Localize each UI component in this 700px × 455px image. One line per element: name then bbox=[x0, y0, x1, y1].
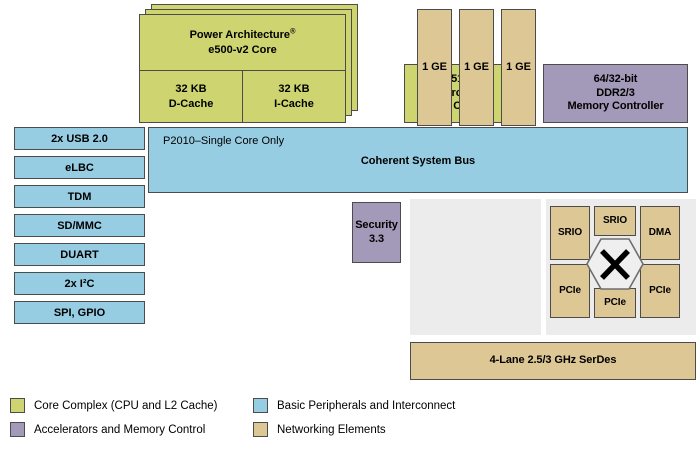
block-diagram-canvas: Power Architecture® e500-v2 Core 32 KB D… bbox=[0, 0, 700, 455]
legend-swatch-networking bbox=[253, 422, 268, 437]
legend-row-2: Accelerators and Memory Control Networki… bbox=[10, 422, 690, 446]
peripheral-label: eLBC bbox=[65, 162, 94, 174]
peripheral-label: SD/MMC bbox=[57, 220, 102, 232]
ethernet-block-2[interactable]: 1 GE bbox=[459, 9, 494, 126]
peripheral-elbc[interactable]: eLBC bbox=[14, 156, 145, 179]
ethernet-tray bbox=[410, 199, 541, 335]
ethernet-label: 1 GE bbox=[506, 61, 531, 75]
i-cache-name: I-Cache bbox=[274, 98, 314, 110]
srio-top-label: SRIO bbox=[603, 215, 627, 228]
pcie-bottom-label: PCIe bbox=[604, 297, 626, 310]
serdes-label: 4-Lane 2.5/3 GHz SerDes bbox=[490, 354, 617, 368]
peripheral-label: TDM bbox=[68, 191, 92, 203]
pcie-right-label: PCIe bbox=[649, 285, 671, 298]
peripheral-label: DUART bbox=[60, 249, 99, 261]
i-cache-size: 32 KB bbox=[278, 83, 309, 95]
dma-block[interactable]: DMA bbox=[640, 206, 680, 260]
security-name: Security bbox=[355, 219, 398, 231]
memory-controller-type: DDR2/3 bbox=[596, 87, 635, 99]
serdes-block[interactable]: 4-Lane 2.5/3 GHz SerDes bbox=[410, 342, 696, 380]
legend-item-accelerators: Accelerators and Memory Control bbox=[10, 422, 205, 437]
ethernet-label: 1 GE bbox=[422, 61, 447, 75]
single-core-note: P2010–Single Core Only bbox=[163, 135, 284, 147]
core-complex-group: Power Architecture® e500-v2 Core 32 KB D… bbox=[139, 4, 358, 123]
peripheral-usb[interactable]: 2x USB 2.0 bbox=[14, 127, 145, 150]
core-complex-block[interactable]: Power Architecture® e500-v2 Core 32 KB D… bbox=[139, 14, 346, 123]
pcie-bottom-block[interactable]: PCIe bbox=[594, 288, 636, 318]
memory-controller-block[interactable]: 64/32-bit DDR2/3 Memory Controller bbox=[543, 64, 688, 123]
legend-item-basic-peripherals: Basic Peripherals and Interconnect bbox=[253, 398, 455, 413]
coherent-system-bus-label: Coherent System Bus bbox=[149, 155, 687, 167]
legend-item-networking: Networking Elements bbox=[253, 422, 386, 437]
peripheral-label: SPI, GPIO bbox=[54, 307, 105, 319]
peripheral-i2c[interactable]: 2x I²C bbox=[14, 272, 145, 295]
peripheral-label: 2x USB 2.0 bbox=[51, 133, 108, 145]
i-cache-block[interactable]: 32 KB I-Cache bbox=[243, 71, 345, 122]
legend-swatch-core-complex bbox=[10, 398, 25, 413]
ethernet-block-1[interactable]: 1 GE bbox=[417, 9, 452, 126]
peripheral-tdm[interactable]: TDM bbox=[14, 185, 145, 208]
legend-item-core-complex: Core Complex (CPU and L2 Cache) bbox=[10, 398, 217, 413]
srio-left-block[interactable]: SRIO bbox=[550, 206, 590, 260]
peripheral-label: 2x I²C bbox=[65, 278, 95, 290]
pcie-right-block[interactable]: PCIe bbox=[640, 264, 680, 318]
crossbar-switch-icon[interactable] bbox=[586, 238, 644, 290]
srio-left-label: SRIO bbox=[558, 227, 582, 240]
legend-label-accelerators: Accelerators and Memory Control bbox=[34, 424, 205, 436]
coherent-system-bus-block[interactable]: P2010–Single Core Only Coherent System B… bbox=[148, 127, 688, 193]
memory-controller-width: 64/32-bit bbox=[594, 73, 638, 85]
legend-label-core-complex: Core Complex (CPU and L2 Cache) bbox=[34, 400, 217, 412]
core-version-text: e500-v2 Core bbox=[208, 44, 277, 56]
peripheral-column: 2x USB 2.0 eLBC TDM SD/MMC DUART 2x I²C … bbox=[14, 127, 145, 330]
pcie-left-block[interactable]: PCIe bbox=[550, 264, 590, 318]
core-name-text: Power Architecture bbox=[190, 29, 290, 41]
legend: Core Complex (CPU and L2 Cache) Basic Pe… bbox=[10, 398, 690, 446]
peripheral-duart[interactable]: DUART bbox=[14, 243, 145, 266]
peripheral-spi-gpio[interactable]: SPI, GPIO bbox=[14, 301, 145, 324]
pcie-left-label: PCIe bbox=[559, 285, 581, 298]
power-architecture-core-label: Power Architecture® e500-v2 Core bbox=[140, 15, 345, 71]
legend-swatch-accelerators bbox=[10, 422, 25, 437]
d-cache-block[interactable]: 32 KB D-Cache bbox=[140, 71, 243, 122]
ethernet-block-3[interactable]: 1 GE bbox=[501, 9, 536, 126]
legend-label-basic-peripherals: Basic Peripherals and Interconnect bbox=[277, 400, 455, 412]
peripheral-sdmmc[interactable]: SD/MMC bbox=[14, 214, 145, 237]
legend-row-1: Core Complex (CPU and L2 Cache) Basic Pe… bbox=[10, 398, 690, 422]
d-cache-size: 32 KB bbox=[175, 83, 206, 95]
srio-top-block[interactable]: SRIO bbox=[594, 206, 636, 236]
registered-trademark-icon: ® bbox=[290, 27, 295, 36]
security-version: 3.3 bbox=[369, 233, 384, 245]
security-engine-block[interactable]: Security 3.3 bbox=[352, 202, 401, 263]
memory-controller-name: Memory Controller bbox=[567, 100, 663, 112]
dma-label: DMA bbox=[649, 227, 671, 240]
d-cache-name: D-Cache bbox=[169, 98, 214, 110]
legend-swatch-basic-peripherals bbox=[253, 398, 268, 413]
ethernet-label: 1 GE bbox=[464, 61, 489, 75]
legend-label-networking: Networking Elements bbox=[277, 424, 386, 436]
cache-row: 32 KB D-Cache 32 KB I-Cache bbox=[140, 71, 345, 122]
